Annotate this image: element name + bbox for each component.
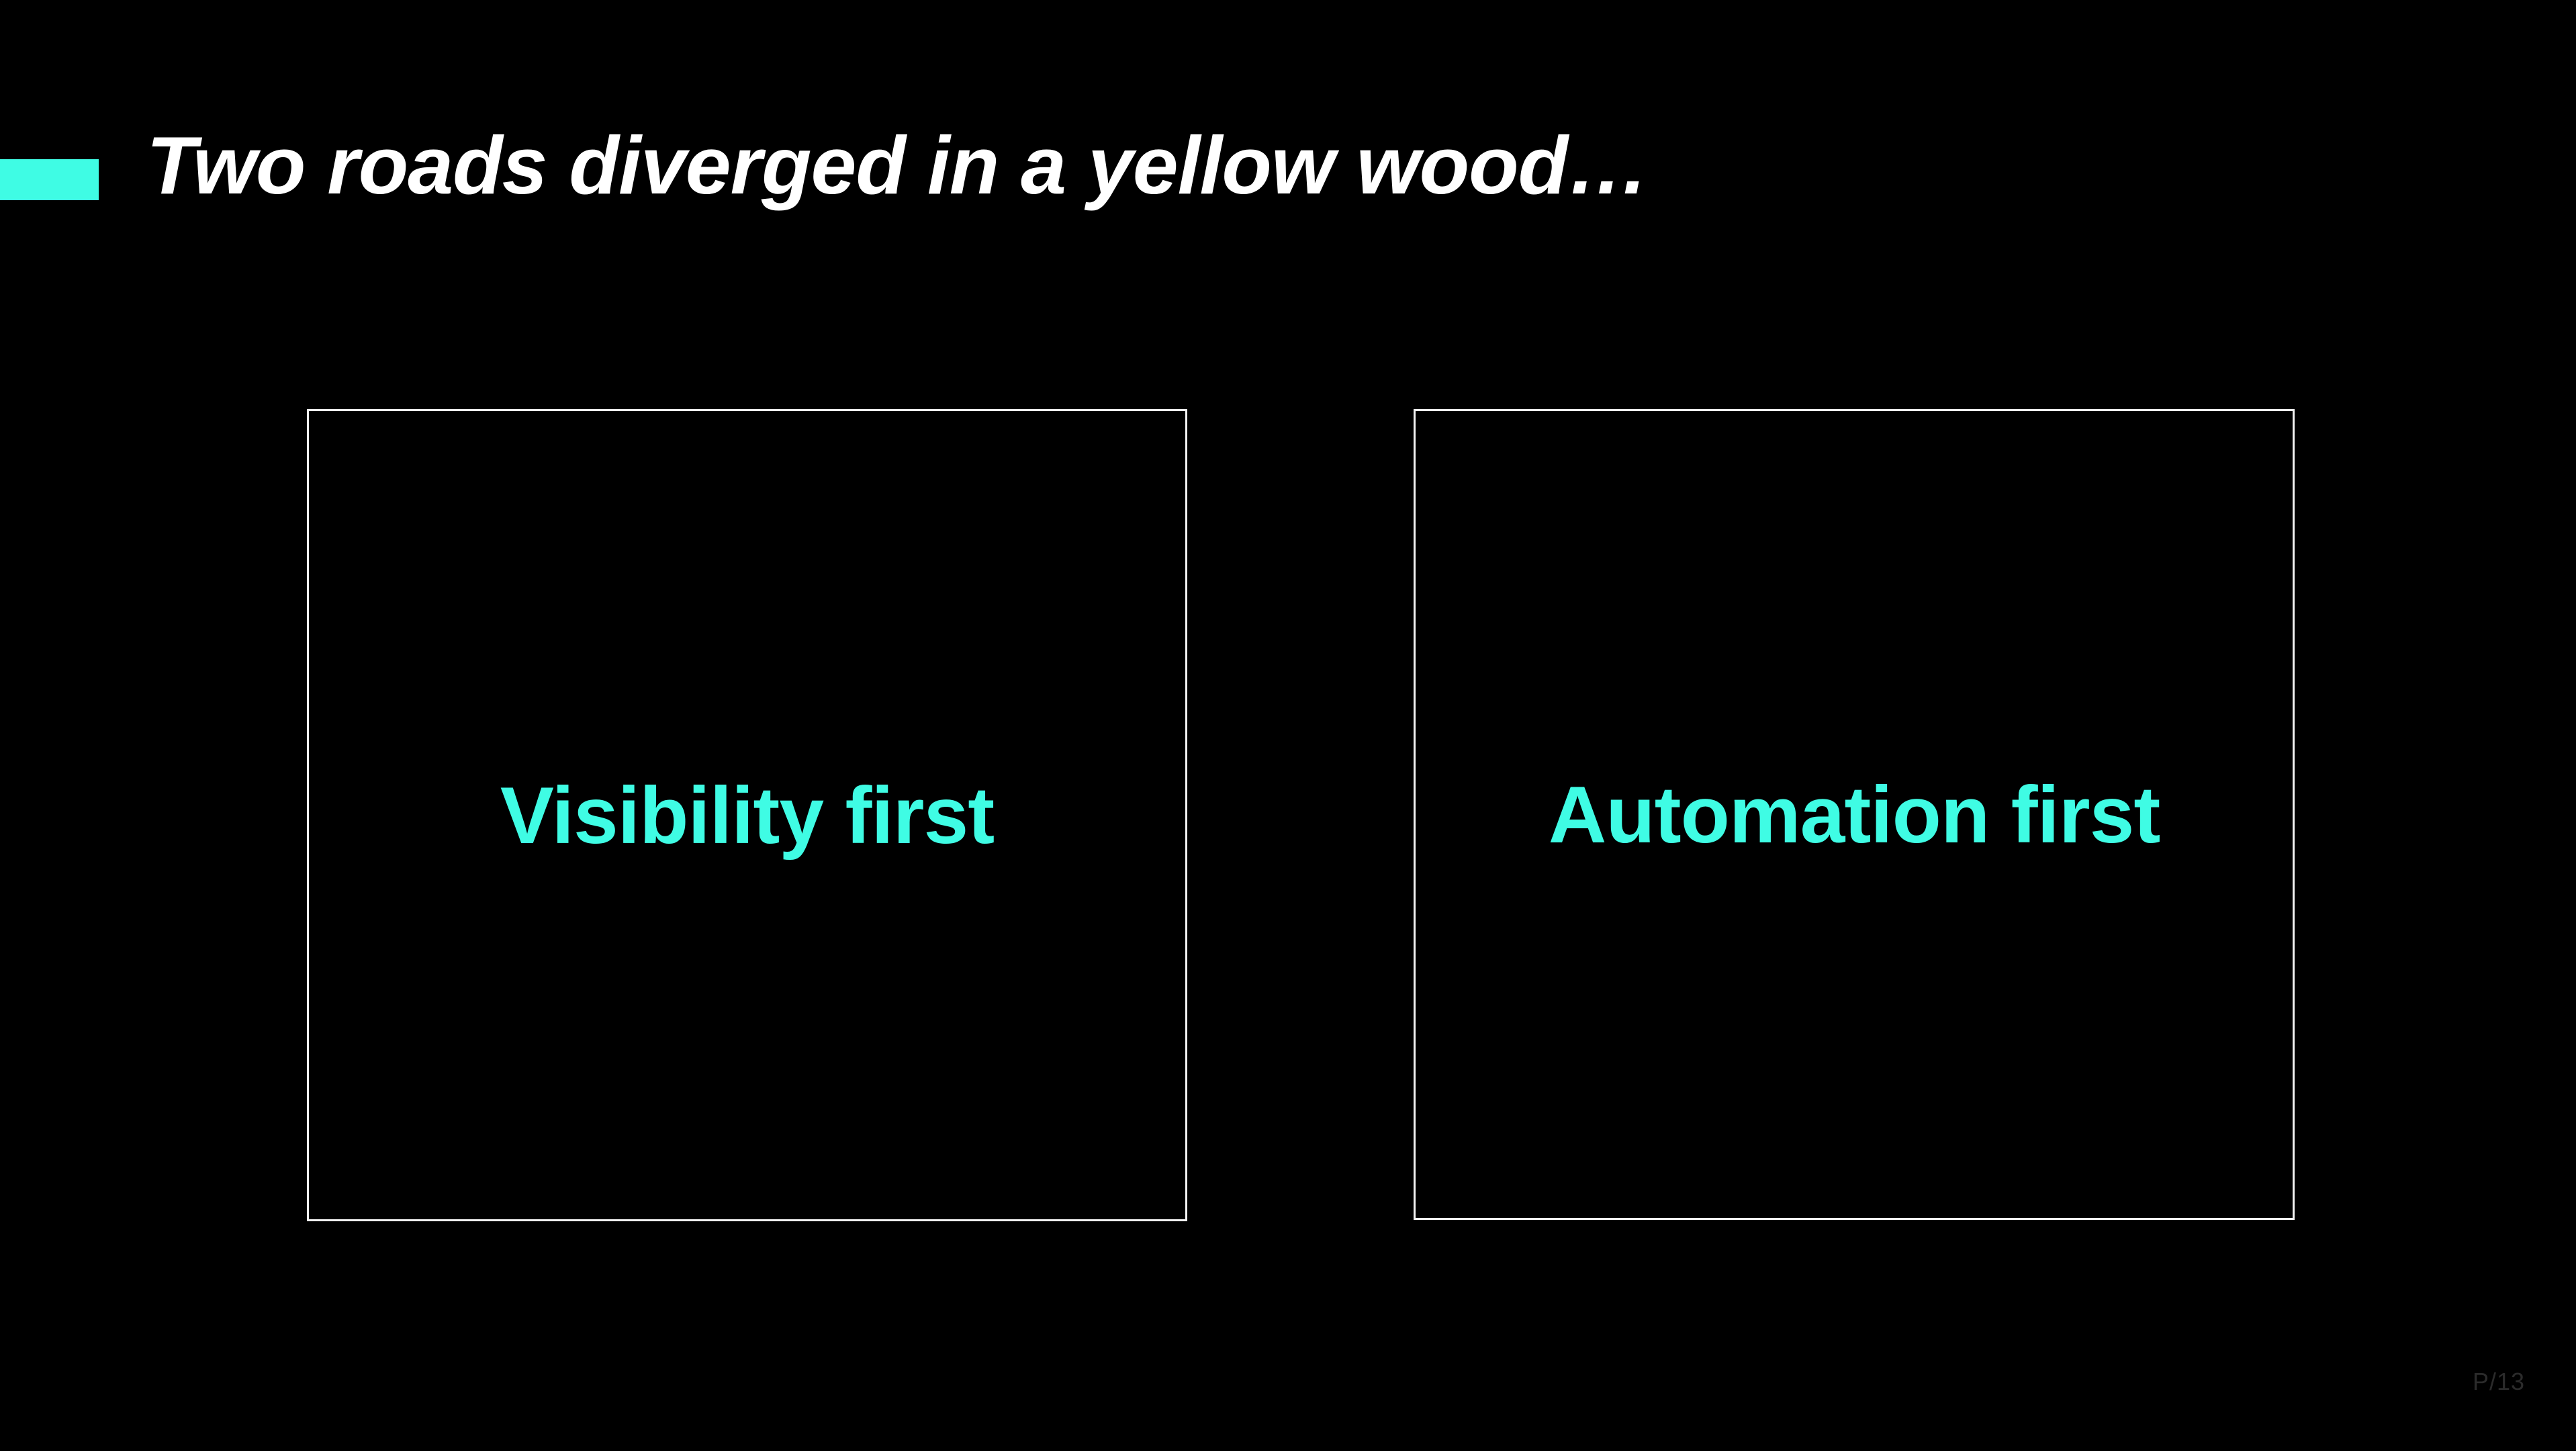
option-card-label: Automation first (1549, 771, 2160, 859)
option-card-automation-first[interactable]: Automation first (1414, 409, 2295, 1220)
page-title: Two roads diverged in a yellow wood… (146, 124, 1649, 206)
slide-canvas: Two roads diverged in a yellow wood… Vis… (0, 0, 2576, 1451)
page-number: P/13 (2473, 1368, 2525, 1396)
option-card-visibility-first[interactable]: Visibility first (307, 409, 1187, 1221)
title-accent-bar (0, 159, 99, 200)
option-card-label: Visibility first (500, 771, 994, 860)
